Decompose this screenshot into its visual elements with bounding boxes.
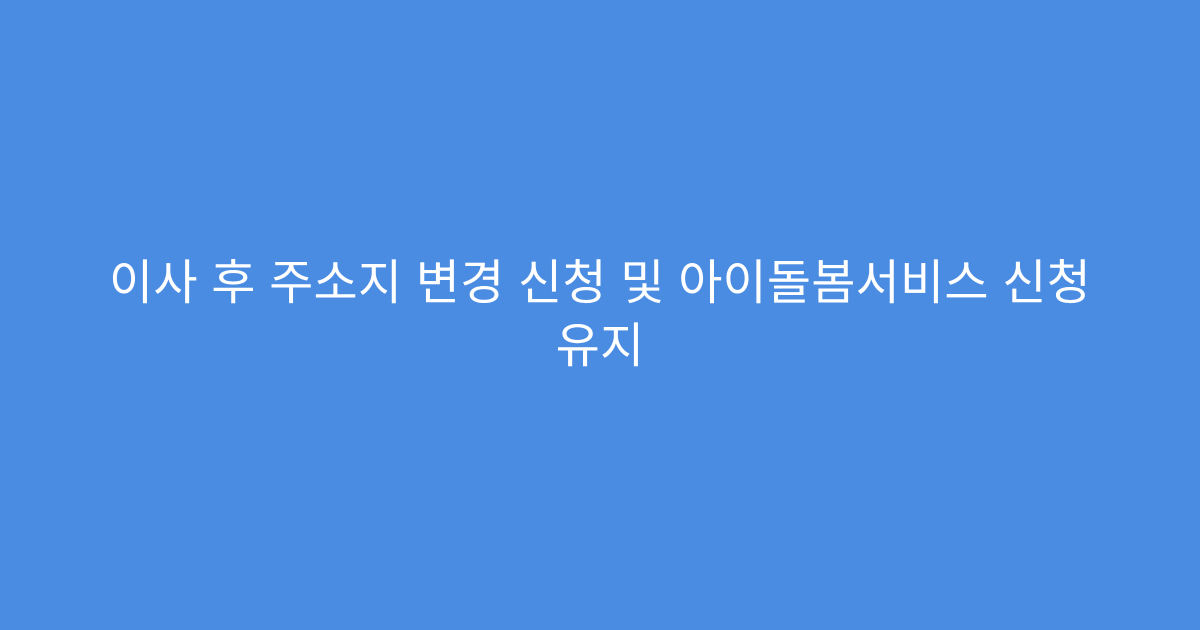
title-block: 이사 후 주소지 변경 신청 및 아이돌봄서비스 신청 유지 [72,252,1128,379]
og-image-card: 이사 후 주소지 변경 신청 및 아이돌봄서비스 신청 유지 [0,0,1200,630]
page-title: 이사 후 주소지 변경 신청 및 아이돌봄서비스 신청 유지 [72,252,1128,379]
